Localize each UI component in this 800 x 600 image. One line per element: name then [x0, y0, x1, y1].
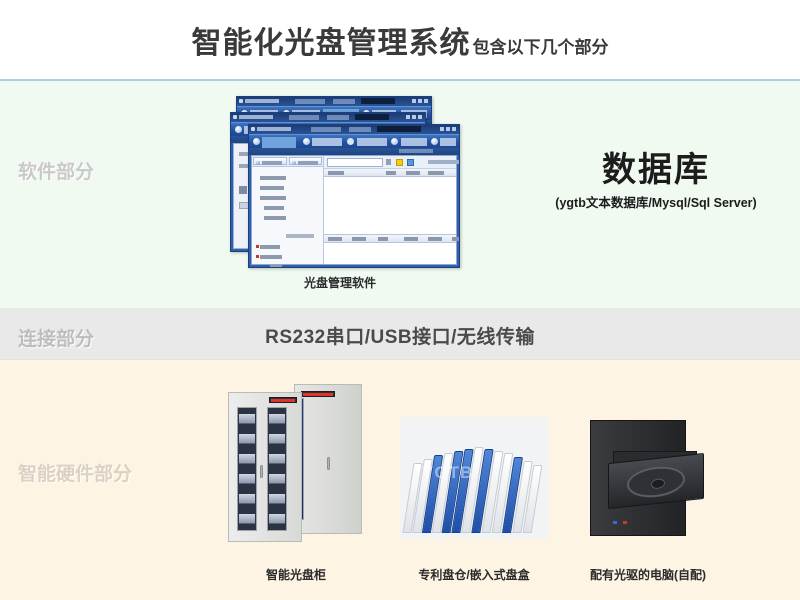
column-title [328, 171, 344, 175]
slide-root: 智能化光盘管理系统 包含以下几个部分 软件部分 连接部分 智能硬件部分 [0, 0, 800, 600]
window-title-text [239, 115, 273, 119]
activity-led-icon [623, 521, 627, 524]
column-title [328, 237, 342, 241]
photo-disc-magazine: YGTB [400, 417, 548, 539]
cabinet-handle [260, 465, 263, 478]
toolbar-label-export [312, 138, 342, 146]
titlebar-field-2 [349, 127, 371, 132]
photo-smart-disc-cabinet [216, 378, 376, 553]
table-column-header[interactable] [324, 169, 456, 177]
led-display-icon [301, 391, 335, 397]
connection-text: RS232串口/USB接口/无线传输 [0, 322, 800, 349]
database-subtitle: (ygtb文本数据库/Mysql/Sql Server) [520, 192, 792, 211]
caption-smart-disc-cabinet: 智能光盘柜 [206, 566, 386, 583]
column-title [386, 171, 396, 175]
tree-node[interactable] [264, 206, 284, 210]
cabinet-right [294, 384, 362, 534]
tab-disc-query[interactable] [289, 157, 323, 165]
column-title [428, 171, 444, 175]
titlebar-field-3 [377, 126, 421, 132]
search-toolbar [324, 156, 456, 169]
tree-node[interactable] [260, 186, 284, 190]
toolbar-icon-export[interactable] [303, 138, 310, 145]
header-title-group: 智能化光盘管理系统 包含以下几个部分 [192, 18, 609, 62]
titlebar-field-2 [327, 115, 349, 120]
window-title-text [245, 99, 279, 103]
column-title [404, 237, 418, 241]
window-subtoolbar [249, 148, 459, 155]
toolbar-icon-query[interactable] [431, 138, 438, 145]
window-toolbar[interactable] [249, 134, 459, 148]
window-titlebar [231, 113, 425, 122]
titlebar-field-3 [355, 114, 389, 120]
titlebar-field-1 [311, 127, 341, 132]
tree-node[interactable] [260, 196, 286, 200]
toolbar-button-active[interactable] [262, 137, 296, 148]
titlebar-field-3 [361, 98, 395, 104]
tree-node[interactable] [270, 265, 282, 268]
page-subtitle: 包含以下几个部分 [473, 33, 609, 58]
caption-disc-magazine: 专利盘仓/嵌入式盘盒 [398, 566, 550, 583]
photo-pc-with-optical-drive [578, 412, 718, 544]
table-body-upper[interactable] [324, 178, 456, 208]
table-body-lower[interactable] [324, 244, 456, 264]
led-display-icon [269, 397, 297, 403]
window-controls[interactable] [412, 99, 428, 103]
section-label-software: 软件部分 [18, 157, 94, 184]
software-screenshot-stack [228, 96, 460, 268]
panel-tabstrip[interactable] [252, 156, 323, 167]
tree-hint [286, 234, 314, 238]
database-title: 数据库 [520, 152, 792, 189]
tree-node[interactable] [260, 176, 286, 180]
main-window-body [251, 155, 457, 265]
photo-watermark: YGTB [422, 463, 473, 483]
column-title [406, 171, 420, 175]
titlebar-field-1 [295, 99, 325, 104]
folder-icon[interactable] [396, 159, 403, 166]
tree-node[interactable] [260, 255, 282, 259]
tab-disc-catalog[interactable] [253, 157, 287, 165]
main-right-panel [324, 156, 456, 264]
cabinet-glass-door-a [237, 407, 257, 531]
window-titlebar [237, 97, 431, 106]
toolbar-label-query [440, 138, 456, 146]
window-controls[interactable] [406, 115, 422, 119]
window-titlebar [249, 125, 459, 134]
page-header: 智能化光盘管理系统 包含以下几个部分 [0, 0, 800, 81]
window-title-text [257, 127, 291, 131]
caption-software: 光盘管理软件 [260, 274, 420, 291]
toolbar-label-settings [401, 138, 427, 146]
column-title [452, 237, 460, 241]
status-dot-icon [256, 245, 259, 248]
titlebar-field-2 [333, 99, 355, 104]
status-text [428, 160, 460, 164]
table-column-header[interactable] [324, 235, 456, 243]
subtoolbar-item-1 [399, 149, 433, 153]
power-led-icon [613, 521, 617, 524]
disc-spindle-icon [627, 464, 685, 500]
disc-icon[interactable] [407, 159, 414, 166]
toolbar-icon-import[interactable] [253, 138, 260, 145]
tree-node[interactable] [264, 216, 286, 220]
main-left-panel [252, 156, 324, 264]
cabinet-handle [327, 457, 330, 470]
cabinet-left [228, 392, 302, 542]
toolbar-icon-disc[interactable] [347, 138, 354, 145]
toolbar-icon-settings[interactable] [391, 138, 398, 145]
toolbar-icon-import[interactable] [235, 126, 242, 133]
section-label-hardware: 智能硬件部分 [18, 459, 132, 486]
tree-node[interactable] [260, 245, 280, 249]
toolbar-label-disc [357, 138, 387, 146]
search-input[interactable] [327, 158, 383, 167]
column-title [428, 237, 442, 241]
column-title [378, 237, 388, 241]
column-title [352, 237, 366, 241]
dropdown-arrow-icon[interactable] [386, 159, 391, 165]
database-block: 数据库 (ygtb文本数据库/Mysql/Sql Server) [520, 152, 792, 211]
caption-pc-with-optical-drive: 配有光驱的电脑(自配) [568, 566, 728, 583]
app-window-main [248, 124, 460, 268]
window-controls[interactable] [440, 127, 456, 131]
nav-search-icon[interactable] [239, 186, 247, 194]
status-dot-icon [256, 255, 259, 258]
cabinet-glass-door-b [267, 407, 287, 531]
optical-drive-tray[interactable] [608, 453, 704, 509]
page-title: 智能化光盘管理系统 [192, 18, 471, 62]
titlebar-field-1 [289, 115, 319, 120]
